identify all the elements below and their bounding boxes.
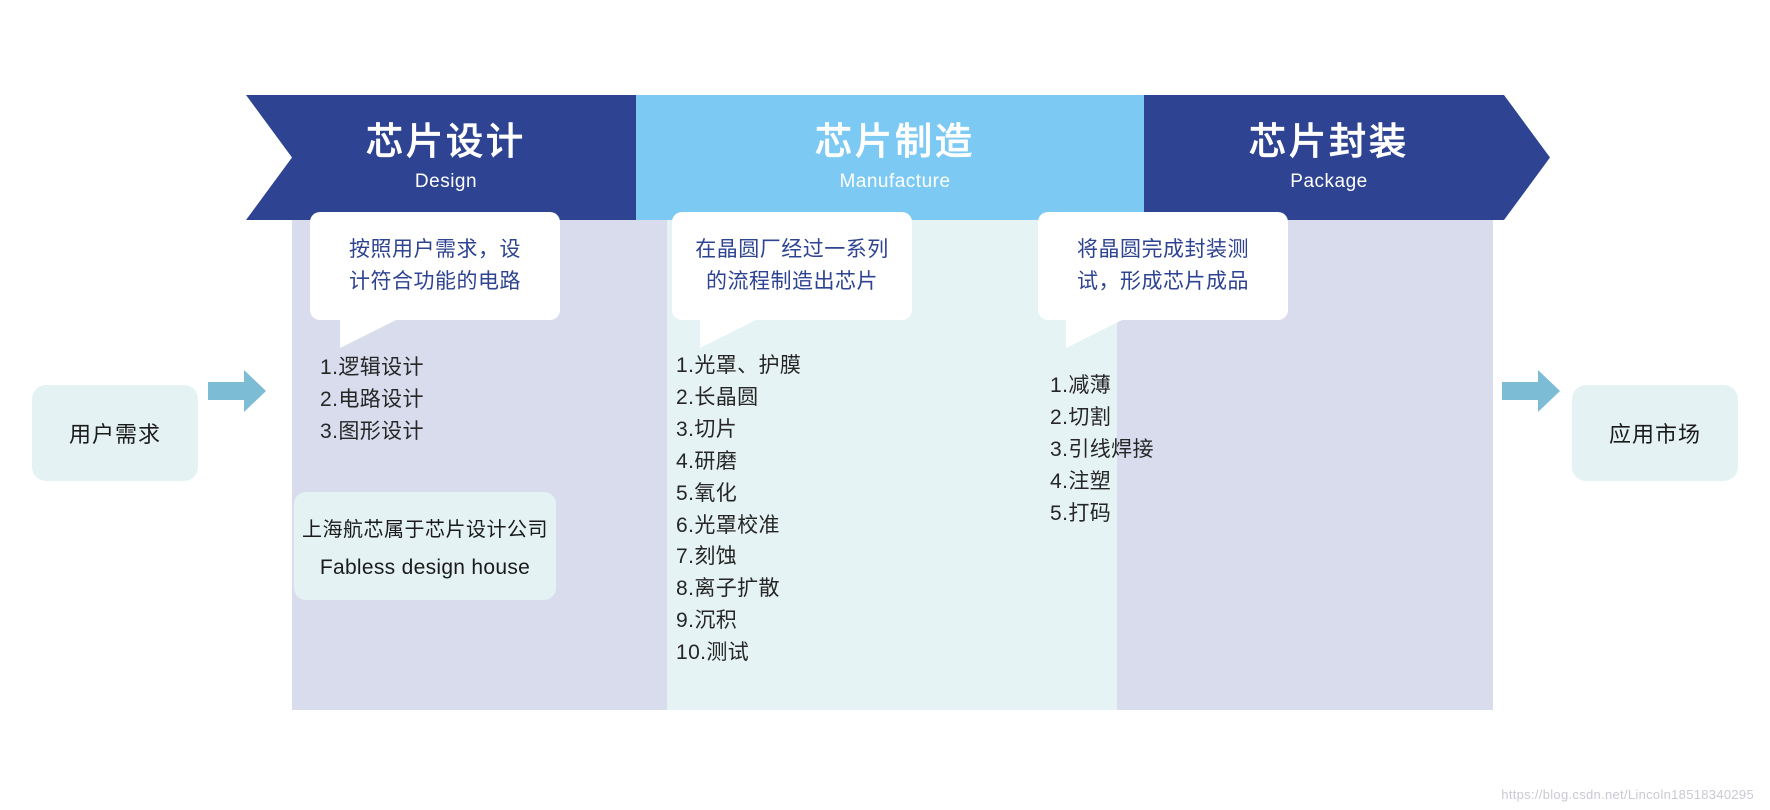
diagram-canvas: 用户需求 芯片设计 Design 芯片制造 Manufacture 芯片封装 P… — [0, 0, 1770, 810]
list-item: 2.长晶圆 — [676, 382, 801, 414]
list-item: 3.图形设计 — [320, 416, 424, 448]
stage-banner-design: 芯片设计 Design — [246, 95, 646, 220]
list-item: 3.引线焊接 — [1050, 434, 1154, 466]
stage-title-cn-design: 芯片设计 — [366, 122, 526, 163]
list-item: 8.离子扩散 — [676, 573, 801, 605]
list-item: 7.刻蚀 — [676, 541, 801, 573]
list-item: 10.测试 — [676, 637, 801, 669]
step-list-manufacture: 1.光罩、护膜 2.长晶圆 3.切片 4.研磨 5.氧化 6.光罩校准 7.刻蚀… — [676, 350, 801, 669]
arrow-right-icon — [1502, 370, 1560, 412]
stage-callout-design: 按照用户需求，设 计符合功能的电路 — [310, 212, 560, 320]
note-card-fabless: 上海航芯属于芯片设计公司 Fabless design house — [294, 492, 556, 600]
watermark-text: https://blog.csdn.net/Lincoln18518340295 — [1501, 787, 1754, 802]
callout-line: 将晶圆完成封装测 — [1077, 234, 1249, 266]
list-item: 9.沉积 — [676, 605, 801, 637]
start-node-label: 用户需求 — [69, 417, 161, 449]
stage-title-en-design: Design — [415, 171, 477, 193]
list-item: 1.逻辑设计 — [320, 352, 424, 384]
callout-line: 在晶圆厂经过一系列 — [695, 234, 889, 266]
list-item: 2.切割 — [1050, 402, 1154, 434]
arrow-right-icon — [208, 370, 266, 412]
end-node-application-market: 应用市场 — [1572, 385, 1738, 481]
callout-line: 试，形成芯片成品 — [1077, 266, 1249, 298]
list-item: 6.光罩校准 — [676, 510, 801, 542]
stage-title-en-manufacture: Manufacture — [839, 171, 950, 193]
list-item: 2.电路设计 — [320, 384, 424, 416]
stage-title-cn-manufacture: 芯片制造 — [815, 122, 975, 163]
list-item: 3.切片 — [676, 414, 801, 446]
stage-title-en-package: Package — [1290, 171, 1367, 193]
callout-line: 的流程制造出芯片 — [695, 266, 889, 298]
list-item: 5.氧化 — [676, 478, 801, 510]
stage-banner-package: 芯片封装 Package — [1144, 95, 1550, 220]
callout-line: 计符合功能的电路 — [349, 266, 521, 298]
stage-callout-text-package: 将晶圆完成封装测 试，形成芯片成品 — [1063, 234, 1263, 298]
stage-banner-manufacture: 芯片制造 Manufacture — [636, 95, 1154, 220]
list-item: 4.注塑 — [1050, 466, 1154, 498]
list-item: 5.打码 — [1050, 498, 1154, 530]
stage-callout-text-design: 按照用户需求，设 计符合功能的电路 — [335, 234, 535, 298]
stage-callout-package: 将晶圆完成封装测 试，形成芯片成品 — [1038, 212, 1288, 320]
stage-callout-text-manufacture: 在晶圆厂经过一系列 的流程制造出芯片 — [681, 234, 903, 298]
list-item: 4.研磨 — [676, 446, 801, 478]
note-card-text-en: Fabless design house — [320, 556, 530, 580]
list-item: 1.光罩、护膜 — [676, 350, 801, 382]
stage-callout-manufacture: 在晶圆厂经过一系列 的流程制造出芯片 — [672, 212, 912, 320]
list-item: 1.减薄 — [1050, 370, 1154, 402]
end-node-label: 应用市场 — [1609, 417, 1701, 449]
start-node-user-requirement: 用户需求 — [32, 385, 198, 481]
step-list-package: 1.减薄 2.切割 3.引线焊接 4.注塑 5.打码 — [1050, 370, 1154, 530]
note-card-text-cn: 上海航芯属于芯片设计公司 — [302, 513, 548, 542]
step-list-design: 1.逻辑设计 2.电路设计 3.图形设计 — [320, 352, 424, 448]
stage-title-cn-package: 芯片封装 — [1249, 122, 1409, 163]
callout-line: 按照用户需求，设 — [349, 234, 521, 266]
